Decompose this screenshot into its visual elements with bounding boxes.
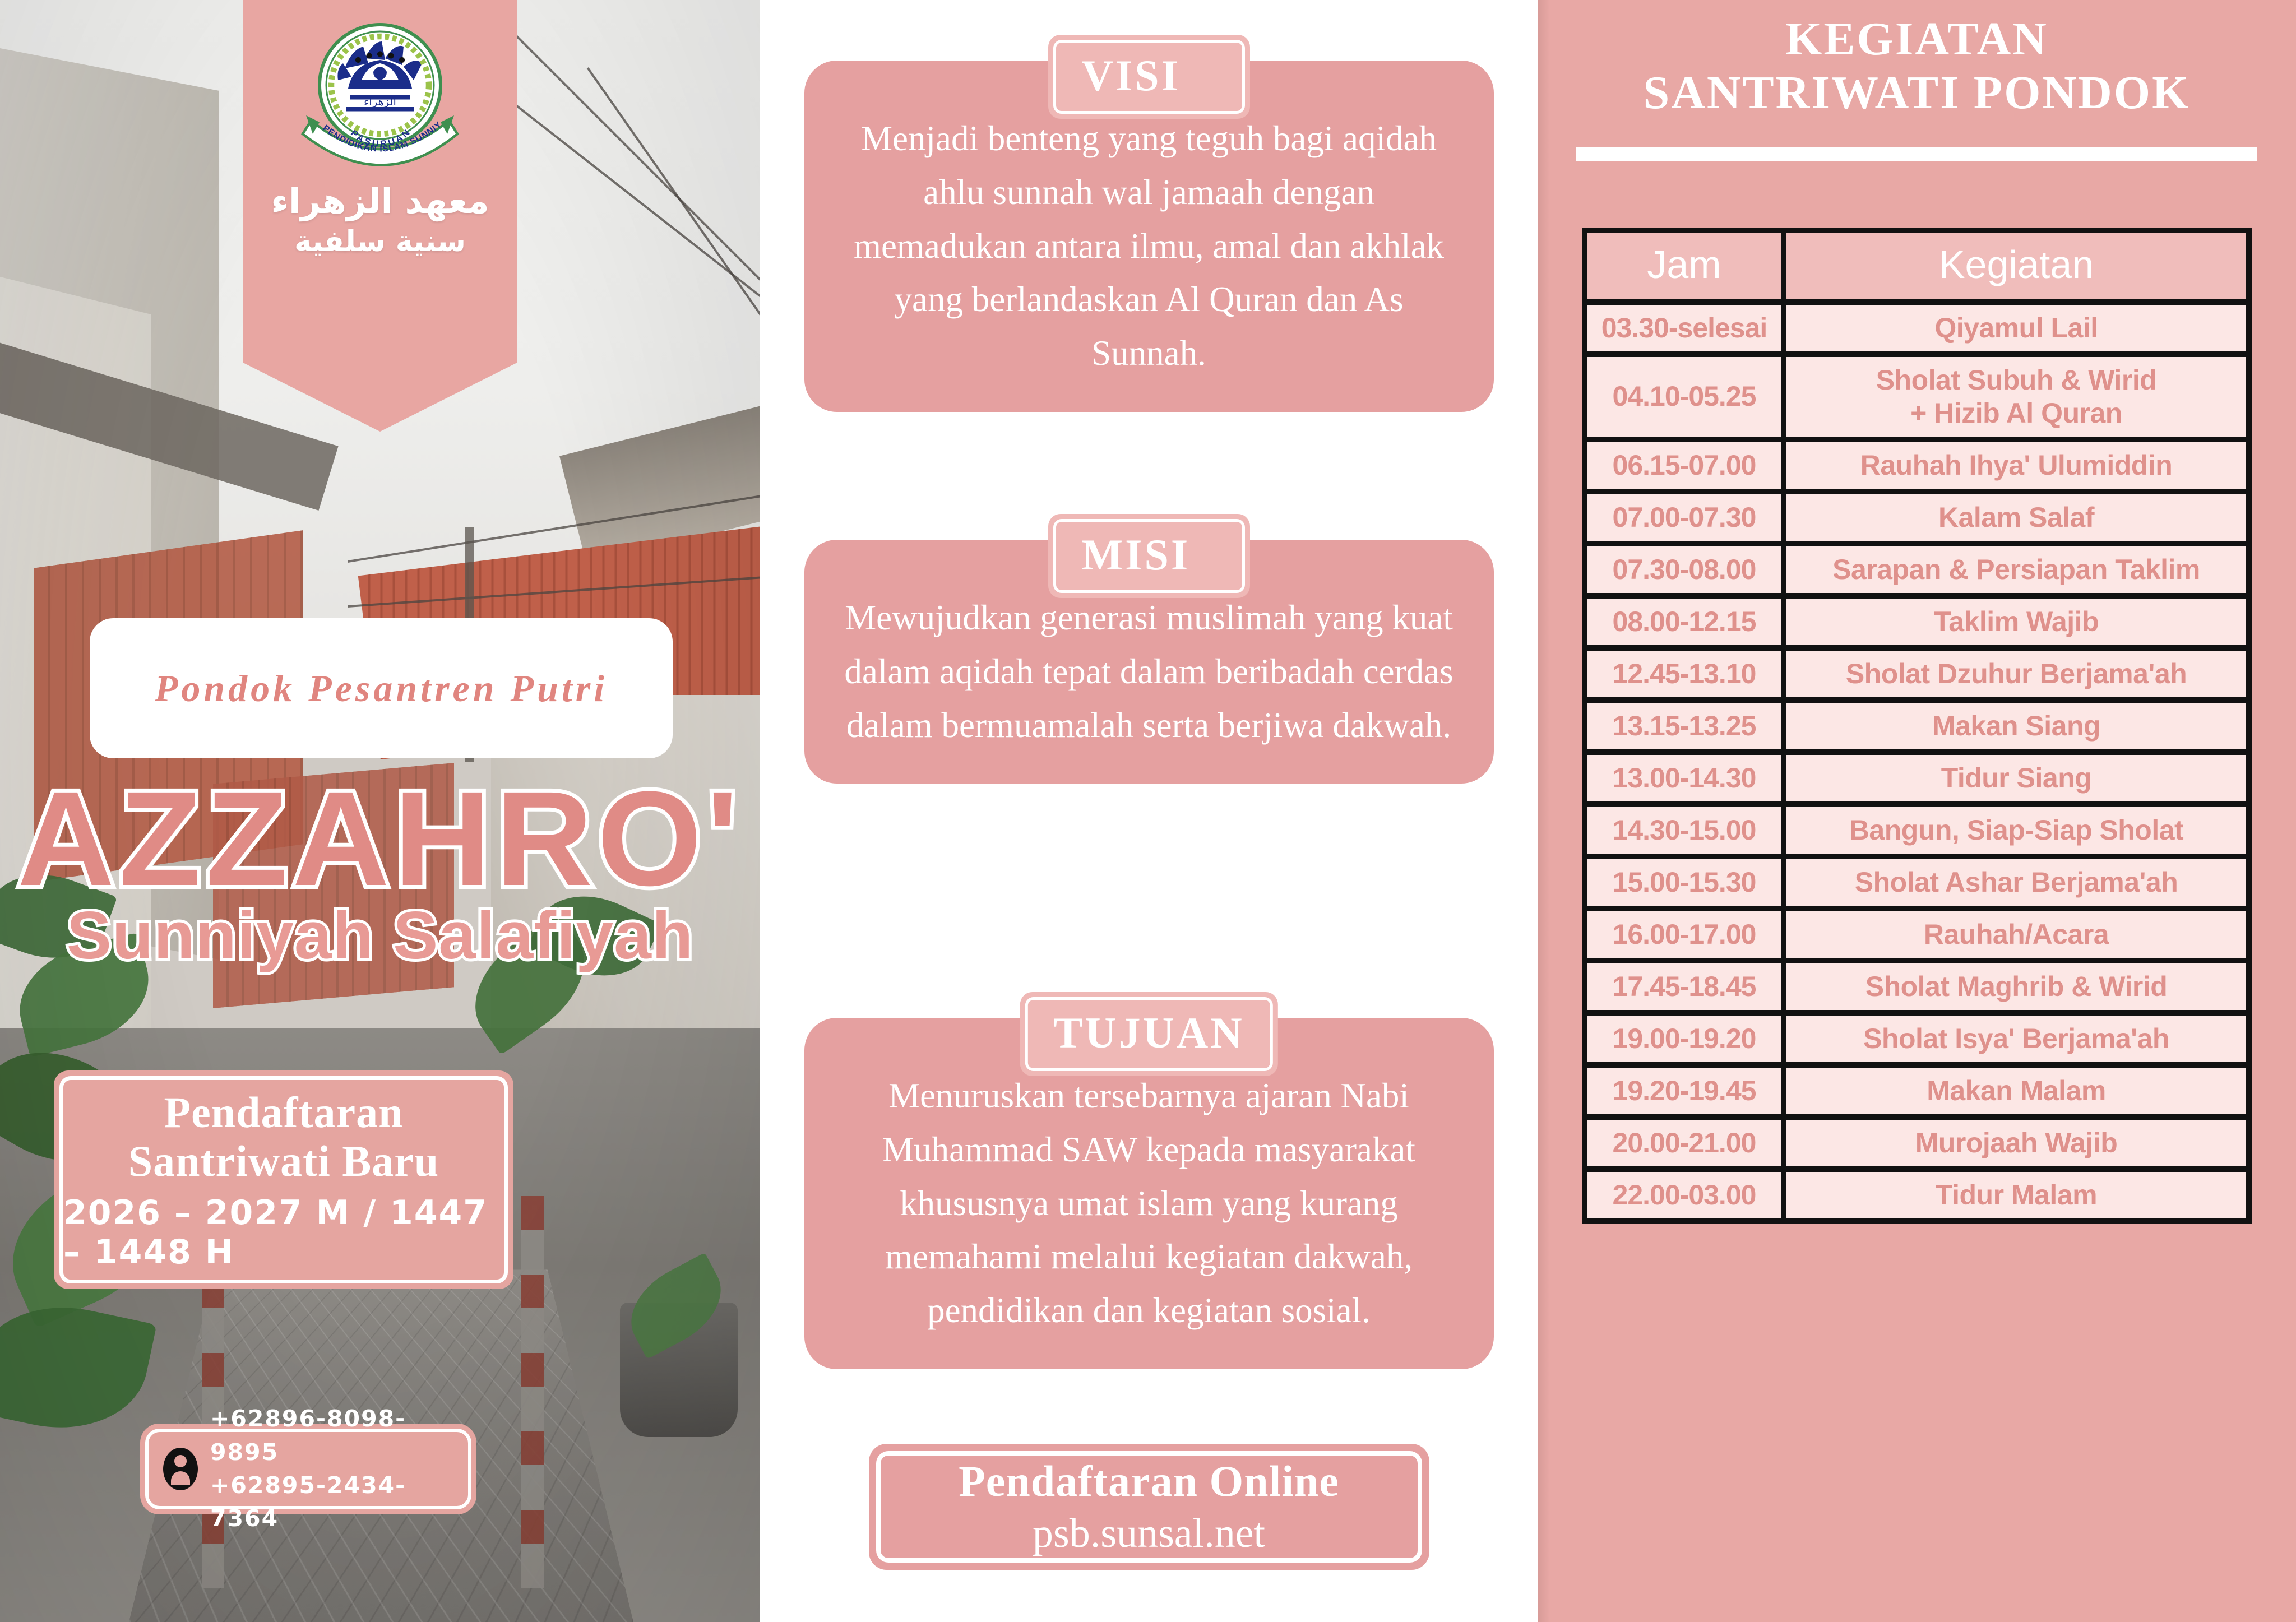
schedule-cell-time: 22.00-03.00	[1585, 1169, 1784, 1221]
table-row: 07.00-07.30Kalam Salaf	[1585, 492, 2249, 544]
schedule-header-time: Jam	[1585, 230, 1784, 302]
online-registration-card[interactable]: Pendaftaran Online psb.sunsal.net	[869, 1444, 1429, 1570]
brochure-root: الزهراء PASURUAN PENDIDIKAN ISLAM SUNNIY…	[0, 0, 2296, 1622]
schedule-cell-activity: Sholat Maghrib & Wirid	[1784, 961, 2249, 1013]
schedule-cell-time: 07.00-07.30	[1585, 492, 1784, 544]
section-tujuan: TUJUAN Menuruskan tersebarnya ajaran Nab…	[804, 1018, 1494, 1369]
schedule-cell-activity: Tidur Siang	[1784, 752, 2249, 804]
table-row: 12.45-13.10Sholat Dzuhur Berjama'ah	[1585, 648, 2249, 700]
schedule-header-activity: Kegiatan	[1784, 230, 2249, 302]
right-schedule-panel: KEGIATAN SANTRIWATI PONDOK Jam Kegiatan …	[1538, 0, 2296, 1622]
section-visi-body: Menjadi benteng yang teguh bagi aqidah a…	[835, 112, 1464, 381]
table-row: 15.00-15.30Sholat Ashar Berjama'ah	[1585, 856, 2249, 909]
left-photo-panel: الزهراء PASURUAN PENDIDIKAN ISLAM SUNNIY…	[0, 0, 760, 1622]
registration-line-1: Pendaftaran	[164, 1088, 404, 1137]
logo-pennant: الزهراء PASURUAN PENDIDIKAN ISLAM SUNNIY…	[243, 0, 517, 432]
schedule-title-line-2: SANTRIWATI PONDOK	[1538, 66, 2296, 120]
table-row: 13.00-14.30Tidur Siang	[1585, 752, 2249, 804]
section-tujuan-label: TUJUAN	[1053, 1008, 1244, 1057]
schedule-cell-activity: Rauhah/Acara	[1784, 909, 2249, 961]
svg-text:الزهراء: الزهراء	[364, 95, 396, 108]
table-row: 19.00-19.20Sholat Isya' Berjama'ah	[1585, 1013, 2249, 1065]
schedule-cell-activity: Makan Siang	[1784, 700, 2249, 752]
schedule-cell-activity: Sholat Subuh & Wirid+ Hizib Al Quran	[1784, 354, 2249, 439]
schedule-cell-time: 13.00-14.30	[1585, 752, 1784, 804]
table-row: 20.00-21.00Murojaah Wajib	[1585, 1117, 2249, 1169]
schedule-cell-time: 16.00-17.00	[1585, 909, 1784, 961]
schedule-header-row: Jam Kegiatan	[1585, 230, 2249, 302]
table-row: 04.10-05.25Sholat Subuh & Wirid+ Hizib A…	[1585, 354, 2249, 439]
schedule-cell-time: 17.45-18.45	[1585, 961, 1784, 1013]
schedule-title-line-1: KEGIATAN	[1538, 12, 2296, 66]
table-row: 06.15-07.00Rauhah Ihya' Ulumiddin	[1585, 439, 2249, 492]
schedule-cell-activity: Tidur Malam	[1784, 1169, 2249, 1221]
schedule-cell-time: 04.10-05.25	[1585, 354, 1784, 439]
table-row: 17.45-18.45Sholat Maghrib & Wirid	[1585, 961, 2249, 1013]
table-row: 13.15-13.25Makan Siang	[1585, 700, 2249, 752]
middle-content-panel: VISI Menjadi benteng yang teguh bagi aqi…	[760, 0, 1538, 1622]
contact-phone-2[interactable]: +62895-2434-7364	[210, 1469, 468, 1536]
section-visi-label: VISI	[1082, 51, 1181, 100]
schedule-body: 03.30-selesaiQiyamul Lail04.10-05.25Shol…	[1585, 302, 2249, 1221]
table-row: 08.00-12.15Taklim Wajib	[1585, 596, 2249, 648]
schedule-cell-activity: Taklim Wajib	[1784, 596, 2249, 648]
schedule-cell-activity: Sarapan & Persiapan Taklim	[1784, 544, 2249, 596]
schedule-title-rule	[1576, 147, 2257, 161]
schedule-cell-activity: Sholat Dzuhur Berjama'ah	[1784, 648, 2249, 700]
section-misi-tab: MISI	[1048, 514, 1250, 598]
schedule-cell-time: 19.00-19.20	[1585, 1013, 1784, 1065]
table-row: 14.30-15.00Bangun, Siap-Siap Sholat	[1585, 804, 2249, 856]
section-misi-label: MISI	[1082, 530, 1191, 579]
person-icon	[163, 1448, 198, 1490]
schedule-cell-activity: Sholat Isya' Berjama'ah	[1784, 1013, 2249, 1065]
logo-arabic-line-2: سنية سلفية	[294, 225, 466, 258]
table-row: 16.00-17.00Rauhah/Acara	[1585, 909, 2249, 961]
schedule-cell-activity: Kalam Salaf	[1784, 492, 2249, 544]
schedule-cell-activity: Qiyamul Lail	[1784, 302, 2249, 354]
schedule-cell-time: 08.00-12.15	[1585, 596, 1784, 648]
section-misi: MISI Mewujudkan generasi muslimah yang k…	[804, 540, 1494, 784]
schedule-cell-activity: Bangun, Siap-Siap Sholat	[1784, 804, 2249, 856]
online-registration-url[interactable]: psb.sunsal.net	[1033, 1510, 1265, 1558]
contact-card[interactable]: +62896-8098-9895 +62895-2434-7364	[140, 1424, 476, 1514]
schedule-cell-time: 14.30-15.00	[1585, 804, 1784, 856]
registration-card: Pendaftaran Santriwati Baru 2026 – 2027 …	[54, 1070, 513, 1289]
schedule-cell-time: 03.30-selesai	[1585, 302, 1784, 354]
schedule-title: KEGIATAN SANTRIWATI PONDOK	[1538, 12, 2296, 120]
section-tujuan-body: Menuruskan tersebarnya ajaran Nabi Muham…	[835, 1069, 1464, 1338]
schedule-cell-time: 13.15-13.25	[1585, 700, 1784, 752]
section-tujuan-tab: TUJUAN	[1020, 992, 1277, 1076]
schedule-cell-time: 20.00-21.00	[1585, 1117, 1784, 1169]
table-row: 22.00-03.00Tidur Malam	[1585, 1169, 2249, 1221]
table-row: 07.30-08.00Sarapan & Persiapan Taklim	[1585, 544, 2249, 596]
page-title: AZZAHRO'	[0, 761, 760, 916]
registration-line-2: Santriwati Baru	[128, 1137, 439, 1185]
schedule-cell-time: 19.20-19.45	[1585, 1065, 1784, 1117]
schedule-cell-activity: Sholat Ashar Berjama'ah	[1784, 856, 2249, 909]
logo-arabic-line-1: معهد الزهراء	[271, 180, 489, 221]
page-title-sub: Sunniyah Salafiyah	[0, 897, 760, 974]
subtitle-text: Pondok Pesantren Putri	[155, 666, 608, 711]
schedule-cell-activity: Rauhah Ihya' Ulumiddin	[1784, 439, 2249, 492]
table-row: 19.20-19.45Makan Malam	[1585, 1065, 2249, 1117]
contact-phone-1[interactable]: +62896-8098-9895	[210, 1402, 468, 1469]
schedule-cell-activity: Murojaah Wajib	[1784, 1117, 2249, 1169]
section-visi-tab: VISI	[1048, 35, 1250, 119]
schedule-cell-time: 06.15-07.00	[1585, 439, 1784, 492]
registration-year: 2026 – 2027 M / 1447 – 1448 H	[63, 1193, 504, 1272]
table-row: 03.30-selesaiQiyamul Lail	[1585, 302, 2249, 354]
schedule-table: Jam Kegiatan 03.30-selesaiQiyamul Lail04…	[1582, 228, 2252, 1224]
schedule-cell-activity: Makan Malam	[1784, 1065, 2249, 1117]
schedule-cell-time: 15.00-15.30	[1585, 856, 1784, 909]
online-registration-title: Pendaftaran Online	[959, 1456, 1339, 1507]
subtitle-pill: Pondok Pesantren Putri	[90, 618, 673, 758]
schedule-cell-time: 12.45-13.10	[1585, 648, 1784, 700]
schedule-cell-time: 07.30-08.00	[1585, 544, 1784, 596]
section-visi: VISI Menjadi benteng yang teguh bagi aqi…	[804, 61, 1494, 412]
school-logo-icon: الزهراء PASURUAN PENDIDIKAN ISLAM SUNNIY…	[296, 8, 464, 176]
section-misi-body: Mewujudkan generasi muslimah yang kuat d…	[835, 591, 1464, 752]
